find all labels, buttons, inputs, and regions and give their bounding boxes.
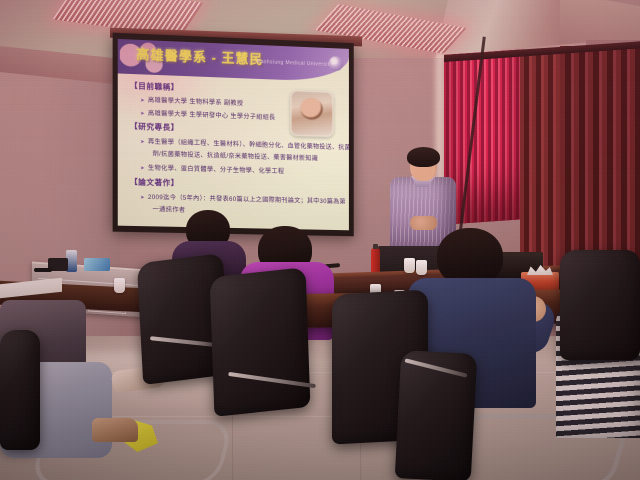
presentation-slide: 高雄醫學系 - 王慧民 Kaohsiung Medical University… xyxy=(118,39,349,230)
conference-room-photo: 高雄醫學系 - 王慧民 Kaohsiung Medical University… xyxy=(0,0,640,480)
blue-bag-on-cabinet xyxy=(84,258,110,271)
attendee-left-foot xyxy=(92,418,138,442)
paper-cup xyxy=(416,260,427,275)
slide-section-heading: 【研究專長】 xyxy=(130,121,179,134)
presenter-hands xyxy=(410,216,437,230)
remote-on-cabinet xyxy=(34,268,52,272)
slide-section-heading: 【論文著作】 xyxy=(130,176,179,188)
paper-cup xyxy=(404,258,415,273)
slide-bullet: 一通訊作者 xyxy=(152,204,185,214)
projection-screen: 高雄醫學系 - 王慧民 Kaohsiung Medical University… xyxy=(113,33,354,237)
chair-backrest xyxy=(0,330,40,450)
slide-portrait-photo xyxy=(290,90,333,137)
fire-extinguisher xyxy=(371,248,380,274)
slide-section-heading: 【目前職稱】 xyxy=(130,80,179,93)
chair-backrest xyxy=(210,267,311,417)
slide-bullet: 2009迄今（5年內）：共發表60篇以上之國際期刊論文；其中30篇為第 xyxy=(140,192,346,206)
slide-bullet: 生物化學、蛋白質體學、分子生物學、化學工程 xyxy=(140,162,284,175)
paper-cup xyxy=(114,278,125,293)
slide-bullet: 高雄醫學大學 生學研發中心 生學分子組組長 xyxy=(140,108,275,122)
presenter-hair xyxy=(407,147,440,167)
chair-backrest xyxy=(560,250,640,360)
slide-bullet: 高雄醫學大學 生物科學系 副教授 xyxy=(140,95,243,108)
slide-bullet: 劑/抗菌藥物投送、抗造紙/奈米藥物投送、藥害醫材新知識 xyxy=(152,149,318,163)
university-seal-icon xyxy=(329,56,344,71)
